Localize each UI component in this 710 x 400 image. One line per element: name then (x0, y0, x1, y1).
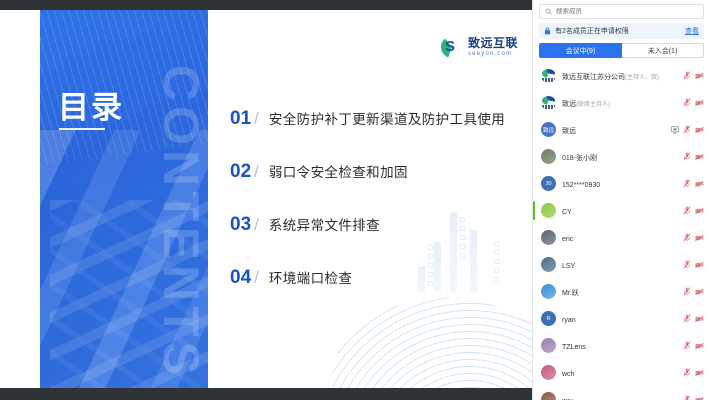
participant-name: Mr.跃 (562, 290, 579, 297)
participant-status-icons (683, 179, 704, 188)
avatar (541, 257, 556, 272)
camera-muted-icon[interactable] (695, 99, 704, 107)
participant-names: ryan (562, 309, 677, 327)
avatar (541, 338, 556, 353)
participant-status-icons (683, 314, 704, 323)
participant-name: CY (562, 209, 572, 216)
speaking-indicator (533, 201, 535, 220)
search-section (533, 0, 710, 22)
participant-name: TZLens (562, 344, 586, 351)
slide-left-gutter (0, 10, 40, 388)
participant-row[interactable]: 致远(联席主持人) (533, 89, 710, 116)
toc-number: 02 (230, 161, 251, 183)
slide-contents-panel: CONTENTS 目录 (40, 10, 208, 388)
seeyon-logo: S 致远互联 seeyon.com (441, 36, 518, 58)
camera-muted-icon[interactable] (695, 315, 704, 323)
permission-request-notice: 有2名成员正在申请权限 查看 (539, 23, 704, 39)
screen-share-icon[interactable] (671, 126, 679, 134)
camera-muted-icon[interactable] (695, 126, 704, 134)
avatar (541, 284, 556, 299)
avatar (541, 68, 556, 83)
mic-muted-icon[interactable] (683, 395, 691, 400)
search-input[interactable] (556, 8, 698, 15)
participant-names: Mr.跃 (562, 282, 677, 300)
participant-name: ryan (562, 317, 576, 324)
camera-muted-icon[interactable] (695, 369, 704, 377)
participant-row[interactable]: LSY (533, 251, 710, 278)
participant-status-icons (683, 368, 704, 377)
camera-muted-icon[interactable] (695, 180, 704, 188)
avatar (541, 203, 556, 218)
mic-muted-icon[interactable] (683, 98, 691, 107)
participant-status-icons (683, 98, 704, 107)
participant-status-icons (683, 395, 704, 400)
participant-name: 致远互联江苏分公司 (562, 74, 625, 81)
mic-muted-icon[interactable] (683, 125, 691, 134)
participant-names: eric (562, 228, 677, 246)
participant-row[interactable]: Mr.跃 (533, 278, 710, 305)
participant-tabs: 会议中(9) 未入会(1) (539, 43, 704, 58)
participant-status-icons (683, 287, 704, 296)
mic-muted-icon[interactable] (683, 260, 691, 269)
toc-item: 01 / 安全防护补丁更新渠道及防护工具使用 (230, 108, 530, 130)
lock-icon (544, 27, 551, 35)
camera-muted-icon[interactable] (695, 72, 704, 80)
participant-names: CY (562, 201, 677, 219)
camera-muted-icon[interactable] (695, 261, 704, 269)
avatar: 致远 (541, 122, 556, 137)
participant-status-icons (683, 206, 704, 215)
mic-muted-icon[interactable] (683, 152, 691, 161)
mic-muted-icon[interactable] (683, 179, 691, 188)
camera-muted-icon[interactable] (695, 342, 704, 350)
mic-muted-icon[interactable] (683, 314, 691, 323)
search-icon (545, 8, 552, 15)
participant-name: wch (562, 371, 574, 378)
participant-name: 152****0930 (562, 182, 600, 189)
participant-status-icons (671, 125, 704, 134)
participant-row[interactable]: 018-张小刚 (533, 143, 710, 170)
participant-name: eric (562, 236, 573, 243)
letterbox-top (0, 0, 532, 10)
participant-role: (主持人、我) (625, 75, 659, 81)
mic-muted-icon[interactable] (683, 341, 691, 350)
notice-text: 有2名成员正在申请权限 (555, 26, 681, 36)
presentation-slide: CONTENTS 目录 S 致远互联 seeyon.com 01 (0, 10, 532, 388)
participant-names: 152****0930 (562, 174, 677, 192)
mic-muted-icon[interactable] (683, 233, 691, 242)
participant-name: 致远 (562, 128, 576, 135)
dot-column-decoration (460, 217, 467, 262)
toc-label: 安全防护补丁更新渠道及防护工具使用 (269, 108, 505, 128)
toc-item: 02 / 弱口令安全检查和加固 (230, 161, 530, 183)
participant-status-icons (683, 233, 704, 242)
participant-status-icons (683, 260, 704, 269)
slide-content-area: S 致远互联 seeyon.com 01 / 安全防护补丁更新渠道及防护工具使用… (208, 10, 532, 388)
participant-status-icons (683, 341, 704, 350)
toc-number: 01 (230, 108, 251, 130)
participant-names: 018-张小刚 (562, 147, 677, 165)
participant-names: xxy (562, 390, 677, 400)
participant-row[interactable]: R ryan (533, 305, 710, 332)
toc-separator: / (254, 215, 259, 235)
toc-number: 03 (230, 214, 251, 236)
participant-name: 018-张小刚 (562, 155, 597, 162)
participant-row[interactable]: 致远互联江苏分公司(主持人、我) (533, 62, 710, 89)
participant-row[interactable]: eric (533, 224, 710, 251)
participant-row[interactable]: TZLens (533, 332, 710, 359)
logo-text-cn: 致远互联 (468, 37, 518, 49)
toc-separator: / (254, 162, 259, 182)
participant-row[interactable]: 致远 致远 (533, 116, 710, 143)
participant-name: LSY (562, 263, 575, 270)
participant-name: 致远 (562, 101, 576, 108)
participant-names: 致远(联席主持人) (562, 93, 677, 111)
toc-label: 系统异常文件排查 (269, 214, 380, 234)
mic-muted-icon[interactable] (683, 287, 691, 296)
avatar: R (541, 311, 556, 326)
participant-row[interactable]: CY (533, 197, 710, 224)
participant-names: wch (562, 363, 677, 381)
participant-status-icons (683, 71, 704, 80)
dot-column-decoration (428, 245, 435, 290)
meeting-screen-share-window: CONTENTS 目录 S 致远互联 seeyon.com 01 (0, 0, 710, 400)
avatar (541, 365, 556, 380)
letterbox-bottom (0, 388, 532, 400)
participants-panel: 有2名成员正在申请权限 查看 会议中(9) 未入会(1) 致远互联江苏分公司(主… (532, 0, 710, 400)
toc-number: 04 (230, 267, 251, 289)
notice-view-link[interactable]: 查看 (685, 26, 699, 36)
avatar (541, 392, 556, 400)
avatar (541, 230, 556, 245)
camera-muted-icon[interactable] (695, 207, 704, 215)
mic-muted-icon[interactable] (683, 71, 691, 80)
participant-names: 致远 (562, 120, 665, 138)
logo-text-en: seeyon.com (468, 51, 518, 57)
avatar (541, 95, 556, 110)
participant-row[interactable]: 30 152****0930 (533, 170, 710, 197)
contents-watermark: CONTENTS (156, 65, 206, 380)
participant-list[interactable]: 致远互联江苏分公司(主持人、我) 致远(联席主持人) 致远 致远 018-张小刚… (533, 62, 710, 400)
mic-muted-icon[interactable] (683, 368, 691, 377)
toc-label: 弱口令安全检查和加固 (269, 161, 408, 181)
slide-title: 目录 (58, 82, 124, 127)
toc-separator: / (254, 109, 259, 129)
tab-not-joined[interactable]: 未入会(1) (622, 43, 704, 58)
search-box[interactable] (539, 4, 704, 19)
participant-row[interactable]: xxy (533, 386, 710, 400)
seeyon-logo-mark-icon: S (441, 36, 463, 58)
participant-status-icons (683, 152, 704, 161)
participant-row[interactable]: wch (533, 359, 710, 386)
participant-names: TZLens (562, 336, 677, 354)
avatar (541, 149, 556, 164)
camera-muted-icon[interactable] (695, 288, 704, 296)
camera-muted-icon[interactable] (695, 234, 704, 242)
camera-muted-icon[interactable] (695, 396, 704, 400)
toc-separator: / (254, 268, 259, 288)
title-underline (59, 128, 105, 130)
bar-chart-decoration (414, 206, 510, 292)
tab-in-meeting[interactable]: 会议中(9) (539, 43, 622, 58)
avatar: 30 (541, 176, 556, 191)
participant-role: (联席主持人) (576, 102, 610, 108)
toc-label: 环境端口检查 (269, 267, 352, 287)
mic-muted-icon[interactable] (683, 206, 691, 215)
participant-names: LSY (562, 255, 677, 273)
camera-muted-icon[interactable] (695, 153, 704, 161)
dot-column-decoration (494, 241, 501, 286)
participant-names: 致远互联江苏分公司(主持人、我) (562, 66, 677, 84)
shared-screen-stage: CONTENTS 目录 S 致远互联 seeyon.com 01 (0, 0, 532, 400)
